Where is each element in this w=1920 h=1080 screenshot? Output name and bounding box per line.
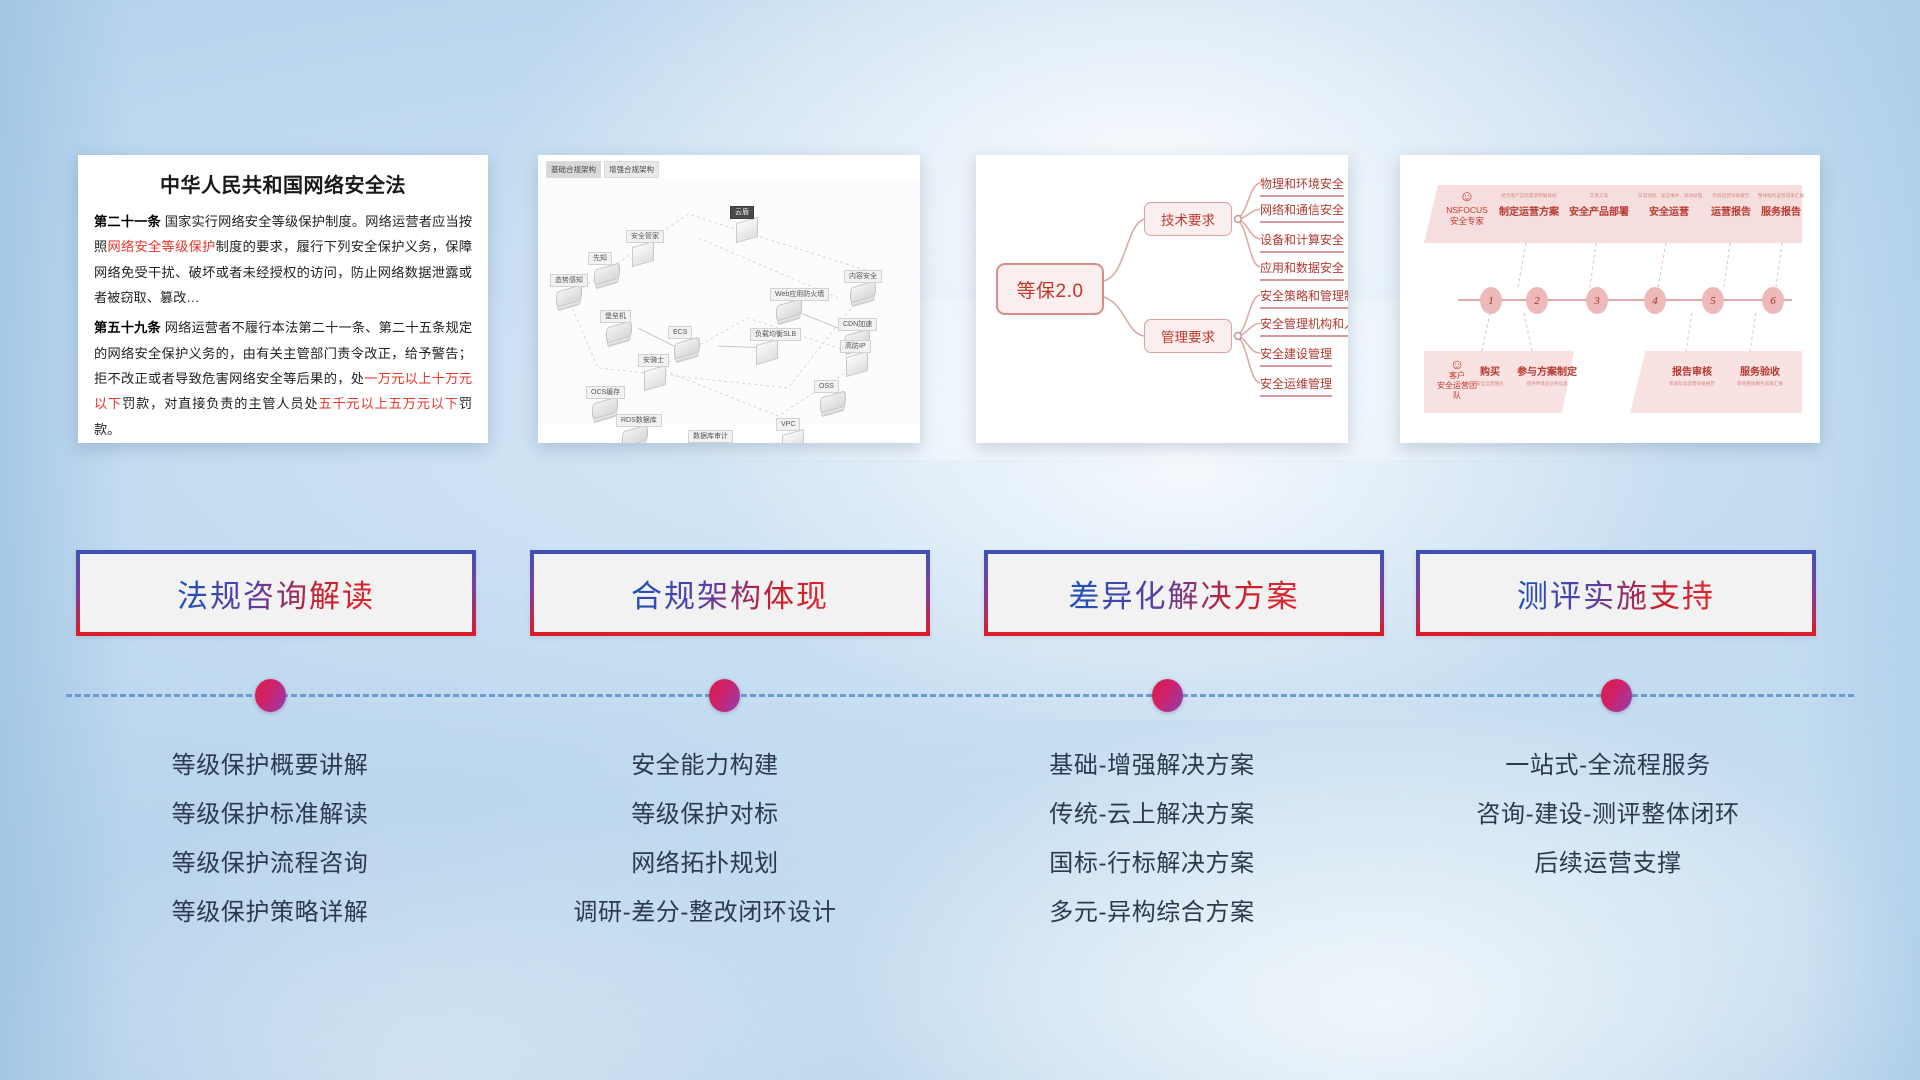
service-step-number-3[interactable]: 3 [1586,287,1608,314]
mindmap-leaf-tech-4[interactable]: 应用和数据安全 [1260,259,1344,281]
architecture-tab-enhanced[interactable]: 增强合规架构 [604,161,659,178]
architecture-node-label[interactable]: 安骑士 [638,354,669,367]
mindmap-leaf-mgmt-1[interactable]: 安全策略和管理制度 [1260,287,1348,309]
mindmap-canvas: 等保2.0 技术要求 管理要求 物理和环境安全 网络和通信安全 设备和计算安全 … [976,155,1348,443]
service-step-bottom-3-sub: 审阅阶段运营效果报告 [1666,381,1718,387]
thumbnail-card-mindmap[interactable]: 等保2.0 技术要求 管理要求 物理和环境安全 网络和通信安全 设备和计算安全 … [976,155,1348,443]
detail-item-1-4: 等级保护策略详解 [50,891,490,940]
timeline-dot-1[interactable] [255,679,286,712]
detail-item-4-2: 咨询-建设-测评整体闭环 [1388,793,1828,842]
service-step-top-4-sub: 阶段运营效果报告 [1702,193,1760,199]
service-step-top-3-sub: 日常巡检、安全事件、高效处理 [1638,193,1700,199]
architecture-node-label[interactable]: OCS缓存 [586,386,625,399]
law-card-title: 中华人民共和国网络安全法 [94,169,472,198]
service-step-top-5-main: 服务报告 [1756,203,1806,218]
headline-label-4: 测评实施支持 [1517,571,1715,616]
service-step-bottom-2-main: 参与方案制定 [1516,363,1578,378]
service-step-number-1[interactable]: 1 [1480,287,1502,314]
detail-item-2-2: 等级保护对标 [485,793,925,842]
headline-box-4[interactable]: 测评实施支持 [1416,550,1816,636]
service-step-bottom-1-sub: 安全运营服务 [1470,381,1510,387]
mindmap-leaf-mgmt-4[interactable]: 安全运维管理 [1260,375,1332,397]
thumbnail-card-architecture[interactable]: 基础合规架构 增强合规架构 安全管家先知态势感知云盾堡垒机ECS安骑士OCS缓存… [538,155,920,443]
detail-item-1-2: 等级保护标准解读 [50,793,490,842]
architecture-node-label[interactable]: 内容安全 [844,270,882,283]
thumbnail-card-service-timeline[interactable]: ☺ NSFOCUS 安全专家 结合客户实际需求明确目标 制定运营方案 实施方案 … [1400,155,1820,443]
law-article-59-part2: 罚款，对直接负责的主管人员处 [122,396,318,411]
detail-item-3-4: 多元-异构综合方案 [932,891,1372,940]
architecture-node-label[interactable]: CDN加速 [838,318,877,331]
timeline-dot-2[interactable] [709,679,740,712]
headline-box-1[interactable]: 法规咨询解读 [76,550,476,636]
mindmap-leaf-tech-3[interactable]: 设备和计算安全 [1260,231,1344,253]
thumbnail-card-law[interactable]: 中华人民共和国网络安全法 第二十一条 国家实行网络安全等级保护制度。网络运营者应… [78,155,488,443]
detail-column-3: 基础-增强解决方案 传统-云上解决方案 国标-行标解决方案 多元-异构综合方案 [932,744,1372,940]
service-step-number-2[interactable]: 2 [1526,287,1548,314]
architecture-node-label[interactable]: RDS数据库 [616,414,662,427]
service-step-bottom-4[interactable]: 服务验收 审阅整体服务成果汇报 [1734,363,1786,387]
mindmap-branch-management[interactable]: 管理要求 [1144,319,1232,353]
service-step-top-1-sub: 结合客户实际需求明确目标 [1498,193,1560,199]
detail-item-4-3: 后续运营支撑 [1388,842,1828,891]
detail-item-3-1: 基础-增强解决方案 [932,744,1372,793]
mindmap-node-toggle-tech [1235,216,1242,223]
service-step-bottom-2[interactable]: 参与方案制定 提供环境及业务信息 [1516,363,1578,387]
mindmap-leaf-tech-1[interactable]: 物理和环境安全 [1260,175,1344,197]
service-step-top-3-main: 安全运营 [1638,203,1700,218]
service-step-top-4-main: 运营报告 [1702,203,1760,218]
service-step-number-6[interactable]: 6 [1762,287,1784,314]
headline-box-2[interactable]: 合规架构体现 [530,550,930,636]
architecture-node-label[interactable]: 态势感知 [550,274,588,287]
service-step-top-1-main: 制定运营方案 [1498,203,1560,218]
detail-item-2-4: 调研-差分-整改闭环设计 [485,891,925,940]
service-step-bottom-1[interactable]: 购买 安全运营服务 [1470,363,1510,387]
mindmap-leaf-mgmt-2[interactable]: 安全管理机构和人员 [1260,315,1348,337]
law-article-21-label: 第二十一条 [94,214,161,229]
service-step-top-4[interactable]: 阶段运营效果报告 运营报告 [1702,193,1760,218]
law-article-59-highlight-2: 五千元以上五万元以下 [319,396,459,411]
detail-item-1-3: 等级保护流程咨询 [50,842,490,891]
mindmap-leaf-tech-2[interactable]: 网络和通信安全 [1260,201,1344,223]
architecture-diagram-canvas: 安全管家先知态势感知云盾堡垒机ECS安骑士OCS缓存RDS数据库负载均衡SLBW… [538,178,920,424]
service-step-top-2-main: 安全产品部署 [1568,203,1630,218]
law-article-21-highlight: 网络安全等级保护 [108,239,216,254]
detail-item-3-2: 传统-云上解决方案 [932,793,1372,842]
service-timeline-expert-line1: NSFOCUS [1446,205,1488,215]
architecture-node-label[interactable]: 安全管家 [626,230,664,243]
detail-item-3-3: 国标-行标解决方案 [932,842,1372,891]
person-star-icon: ☺ [1436,189,1498,204]
service-step-top-1[interactable]: 结合客户实际需求明确目标 制定运营方案 [1498,193,1560,218]
mindmap-node-toggle-mgmt [1235,333,1242,340]
architecture-tab-basic[interactable]: 基础合规架构 [546,161,601,178]
mindmap-branch-technical[interactable]: 技术要求 [1144,202,1232,236]
headline-label-1: 法规咨询解读 [177,571,375,616]
service-step-top-5-sub: 整体服务运营成果汇报 [1756,193,1806,199]
service-step-bottom-3-main: 报告审核 [1666,363,1718,378]
law-card-content: 中华人民共和国网络安全法 第二十一条 国家实行网络安全等级保护制度。网络运营者应… [78,155,488,442]
service-step-top-3[interactable]: 日常巡检、安全事件、高效处理 安全运营 [1638,193,1700,218]
detail-column-1: 等级保护概要讲解 等级保护标准解读 等级保护流程咨询 等级保护策略详解 [50,744,490,940]
architecture-node-label[interactable]: 堡垒机 [600,310,631,323]
architecture-node-label[interactable]: 负载均衡SLB [750,328,801,341]
service-step-top-5[interactable]: 整体服务运营成果汇报 服务报告 [1756,193,1806,218]
timeline-dot-3[interactable] [1152,679,1183,712]
service-step-number-5[interactable]: 5 [1702,287,1724,314]
architecture-node-label[interactable]: 先知 [588,252,612,265]
timeline-dot-4[interactable] [1601,679,1632,712]
service-timeline-customer-line1: 客户 [1449,371,1465,380]
architecture-node-label[interactable]: ECS [668,326,692,339]
service-timeline-canvas: ☺ NSFOCUS 安全专家 结合客户实际需求明确目标 制定运营方案 实施方案 … [1400,155,1820,443]
law-article-59: 第五十九条 网络运营者不履行本法第二十一条、第二十五条规定的网络安全保护义务的，… [94,315,472,442]
detail-column-2: 安全能力构建 等级保护对标 网络拓扑规划 调研-差分-整改闭环设计 [485,744,925,940]
service-timeline-expert-group: ☺ NSFOCUS 安全专家 [1436,189,1498,226]
mindmap-root-node[interactable]: 等保2.0 [996,263,1104,315]
architecture-node-label[interactable]: 数据库审计 [688,430,733,443]
law-article-59-label: 第五十九条 [94,320,161,335]
architecture-node-label[interactable]: 云盾 [730,206,754,219]
detail-item-1-1: 等级保护概要讲解 [50,744,490,793]
headline-label-3: 差异化解决方案 [1069,571,1300,616]
service-step-bottom-4-sub: 审阅整体服务成果汇报 [1734,381,1786,387]
detail-item-4-1: 一站式-全流程服务 [1388,744,1828,793]
law-article-21: 第二十一条 国家实行网络安全等级保护制度。网络运营者应当按照网络安全等级保护制度… [94,209,472,310]
headline-label-2: 合规架构体现 [631,571,829,616]
architecture-node-label[interactable]: Web应用防火墙 [770,288,829,301]
service-step-bottom-1-main: 购买 [1470,363,1510,378]
headline-box-3[interactable]: 差异化解决方案 [984,550,1384,636]
service-step-bottom-4-main: 服务验收 [1734,363,1786,378]
detail-item-2-1: 安全能力构建 [485,744,925,793]
service-step-bottom-2-sub: 提供环境及业务信息 [1516,381,1578,387]
architecture-node-label[interactable]: 高防IP [840,340,871,353]
service-step-bottom-3[interactable]: 报告审核 审阅阶段运营效果报告 [1666,363,1718,387]
architecture-node-label[interactable]: VPC [776,418,800,431]
service-step-top-2[interactable]: 实施方案 安全产品部署 [1568,193,1630,218]
service-timeline-expert-line2: 安全专家 [1450,216,1484,226]
timeline-dashed-line [66,694,1854,697]
architecture-node-label[interactable]: OSS [814,380,839,393]
detail-item-2-3: 网络拓扑规划 [485,842,925,891]
service-step-number-4[interactable]: 4 [1644,287,1666,314]
mindmap-leaf-mgmt-3[interactable]: 安全建设管理 [1260,345,1332,367]
service-step-top-2-sub: 实施方案 [1568,193,1630,199]
detail-column-4: 一站式-全流程服务 咨询-建设-测评整体闭环 后续运营支撑 [1388,744,1828,891]
architecture-tab-bar: 基础合规架构 增强合规架构 [538,155,920,178]
